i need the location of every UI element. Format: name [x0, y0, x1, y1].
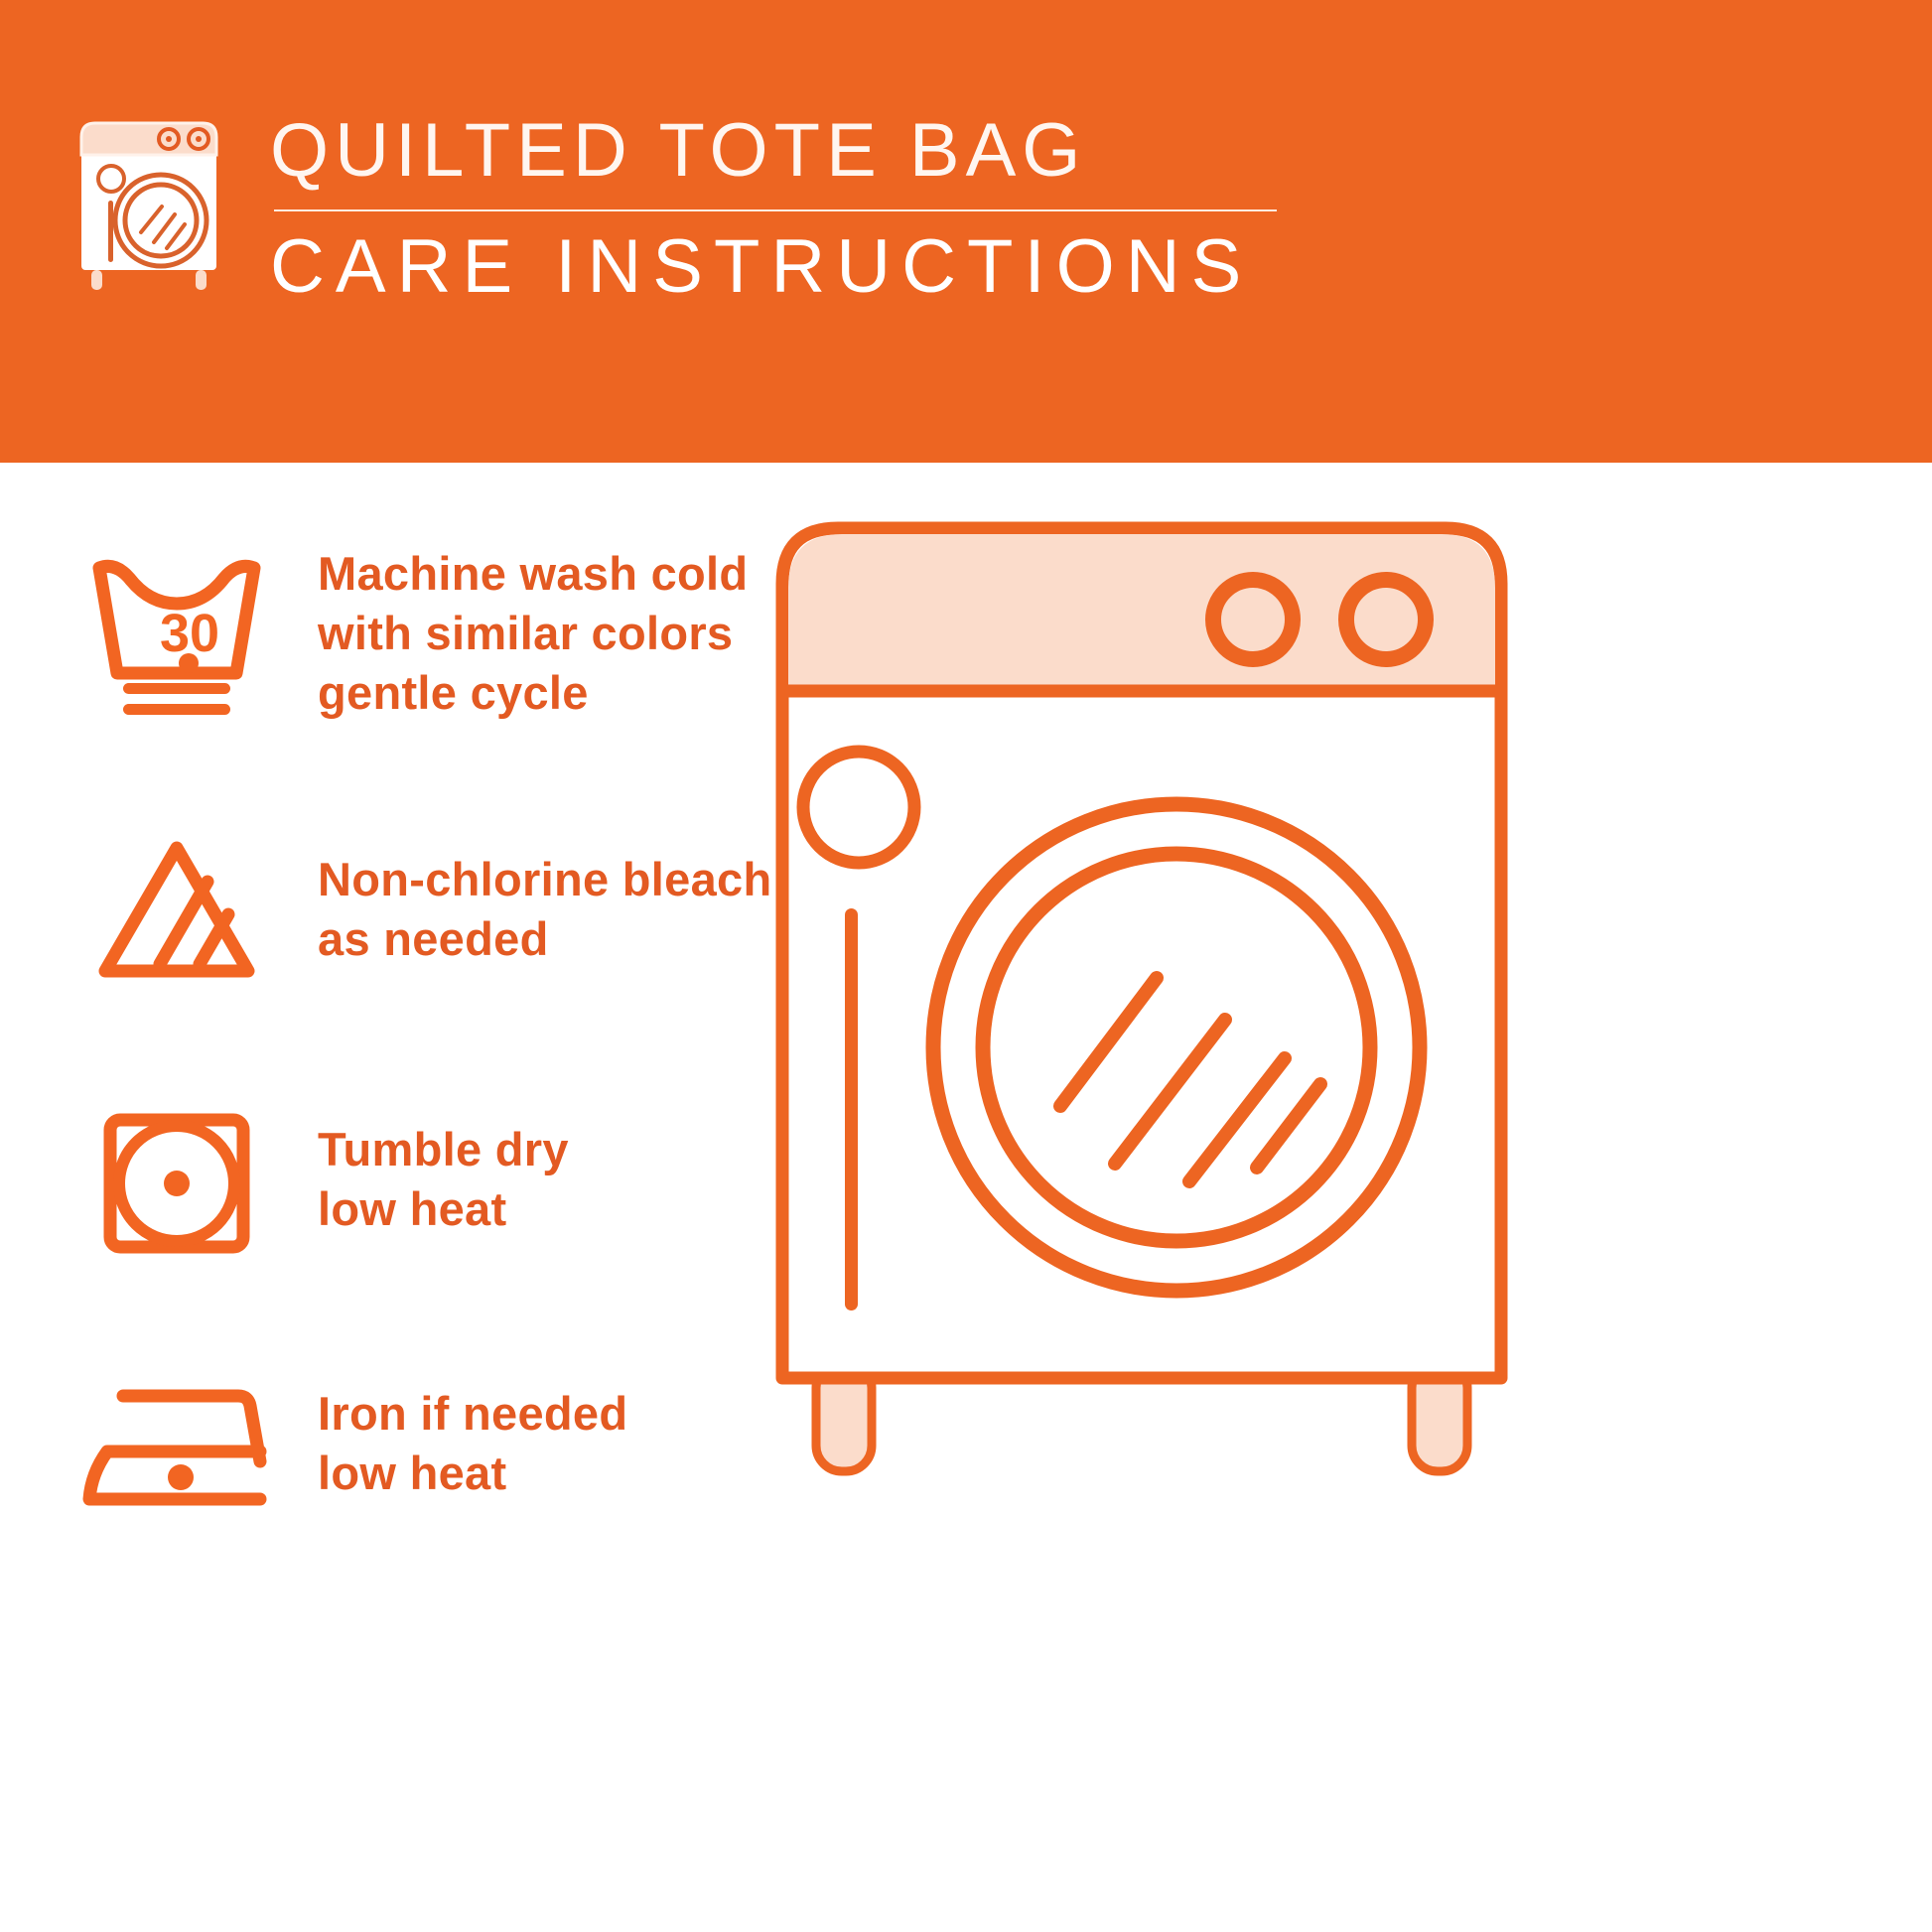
- tumble-dry-low-icon: [77, 1080, 276, 1279]
- care-row-iron: Iron if needed low heat: [77, 1344, 862, 1543]
- knob-left: [1213, 580, 1293, 659]
- iron-low-heat-icon: [77, 1344, 276, 1543]
- small-dial: [803, 752, 914, 863]
- care-row-bleach: Non-chlorine bleach as needed: [77, 810, 862, 1009]
- care-text-tumble-dry: Tumble dry low heat: [318, 1120, 569, 1238]
- washing-machine-icon: [69, 111, 228, 300]
- care-row-machine-wash: 30 Machine wash cold with similar colors…: [77, 534, 862, 733]
- care-text-iron: Iron if needed low heat: [318, 1384, 627, 1502]
- care-row-tumble-dry: Tumble dry low heat: [77, 1080, 862, 1279]
- page-subtitle: CARE INSTRUCTIONS: [270, 229, 1277, 305]
- door-inner-ring: [983, 854, 1370, 1241]
- bleach-triangle-icon: [77, 810, 276, 1009]
- care-text-machine-wash: Machine wash cold with similar colors ge…: [318, 544, 748, 722]
- care-instruction-list: 30 Machine wash cold with similar colors…: [0, 463, 894, 1932]
- wash-basin-30-icon: 30: [77, 534, 276, 733]
- page-title: QUILTED TOTE BAG: [270, 113, 1277, 189]
- title-divider: [274, 209, 1277, 211]
- header-title-group: QUILTED TOTE BAG CARE INSTRUCTIONS: [270, 107, 1277, 305]
- knob-right: [1346, 580, 1426, 659]
- washing-machine-illustration: [764, 496, 1519, 1479]
- header-banner: QUILTED TOTE BAG CARE INSTRUCTIONS: [0, 0, 1932, 463]
- care-instructions-page: QUILTED TOTE BAG CARE INSTRUCTIONS 30: [0, 0, 1932, 1932]
- header-content: QUILTED TOTE BAG CARE INSTRUCTIONS: [69, 107, 1277, 305]
- care-text-bleach: Non-chlorine bleach as needed: [318, 850, 771, 968]
- vertical-bar: [845, 908, 858, 1311]
